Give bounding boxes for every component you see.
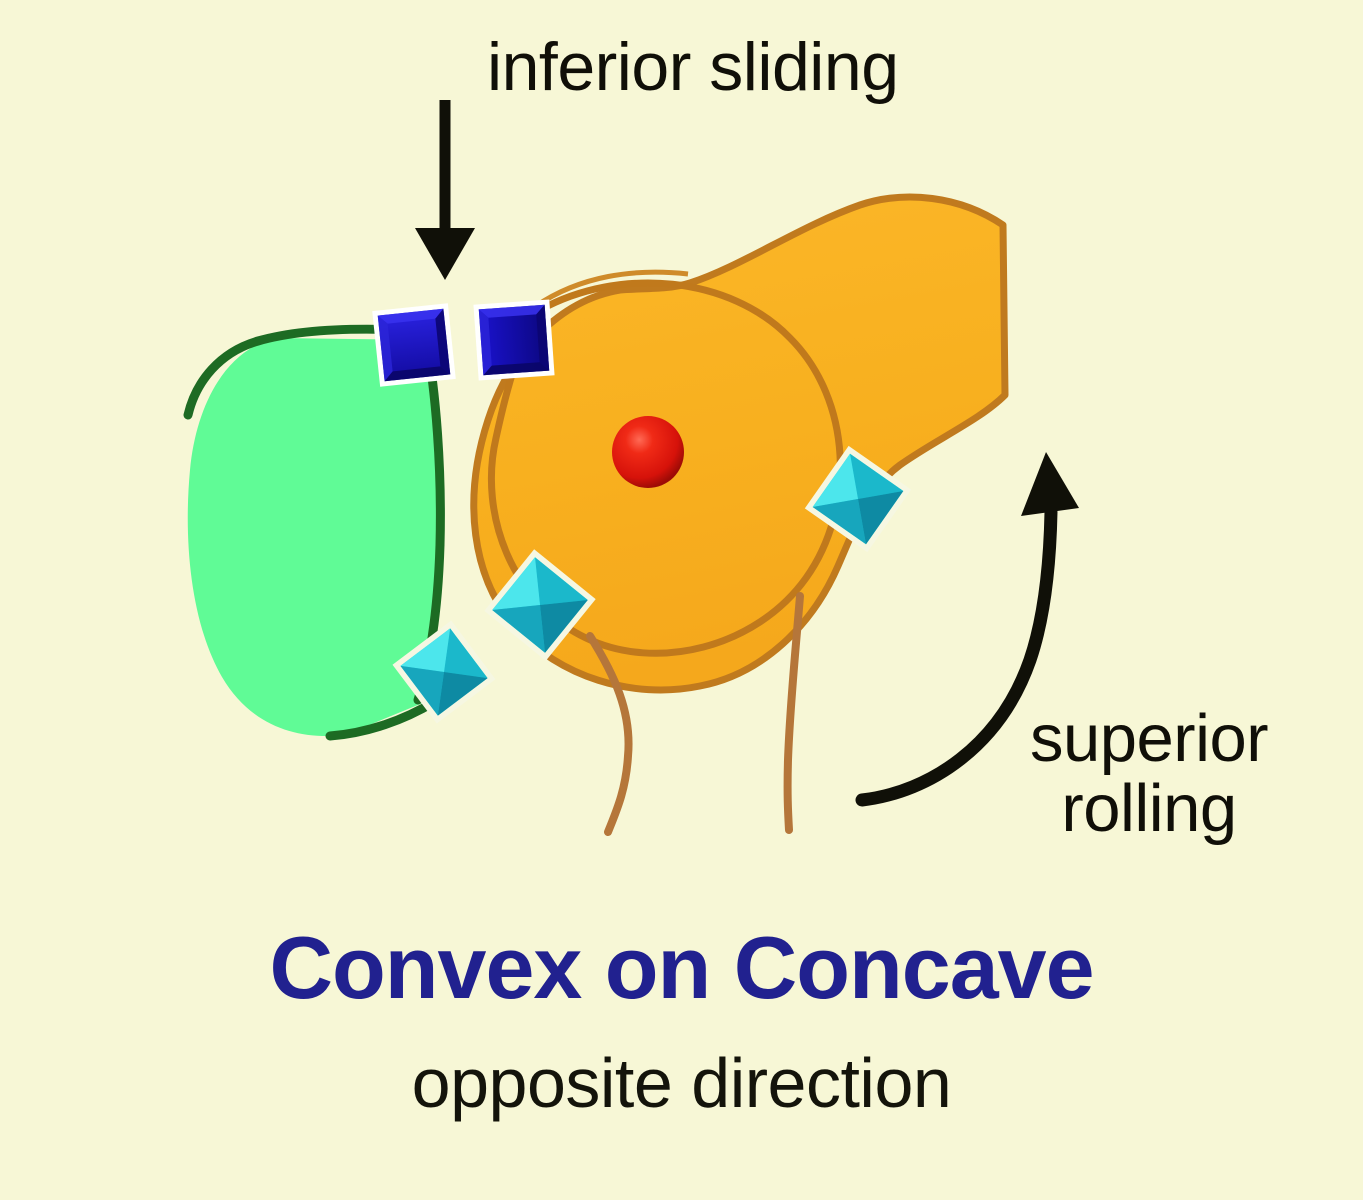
caption-title: Convex on Concave: [0, 917, 1363, 1019]
blue-marker-1: [372, 303, 456, 387]
label-superior-line2: rolling: [1030, 775, 1268, 843]
center-of-rotation: [612, 416, 684, 488]
label-superior-rolling: superiorrolling: [1030, 705, 1268, 844]
convex-bone: [474, 197, 1005, 832]
label-inferior-sliding: inferior sliding: [487, 33, 899, 102]
caption-subtitle: opposite direction: [0, 1043, 1363, 1123]
diagram-page: inferior sliding superiorrolling Convex …: [0, 0, 1363, 1200]
straight-arrow-down: [415, 100, 475, 280]
arthrokinematics-diagram: [0, 0, 1363, 1200]
blue-marker-2: [473, 299, 554, 380]
label-superior-line1: superior: [1030, 701, 1268, 776]
